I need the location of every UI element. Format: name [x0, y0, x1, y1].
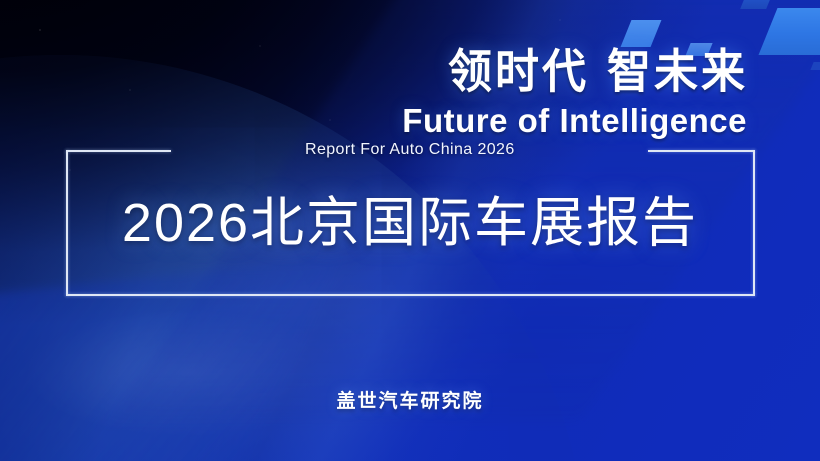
- slogan-chinese-part1: 领时代: [448, 46, 589, 98]
- slogan-chinese: 领时代智未来: [448, 49, 748, 96]
- organization-name: 盖世汽车研究院: [0, 392, 820, 411]
- presentation-slide: 领时代智未来 Future of Intelligence Report For…: [0, 0, 820, 461]
- page-title: 2026北京国际车展报告: [0, 196, 820, 250]
- slogan-chinese-part2: 智未来: [607, 46, 748, 98]
- parallelogram-xsmall-icon: [740, 0, 770, 9]
- slogan-english: Future of Intelligence: [402, 104, 747, 137]
- title-frame-top-right-segment: [648, 150, 755, 152]
- report-subtitle: Report For Auto China 2026: [305, 142, 515, 158]
- title-frame-top-left-segment: [66, 150, 171, 152]
- title-frame-bottom-edge: [66, 294, 755, 296]
- parallelogram-strip-icon: [810, 62, 820, 70]
